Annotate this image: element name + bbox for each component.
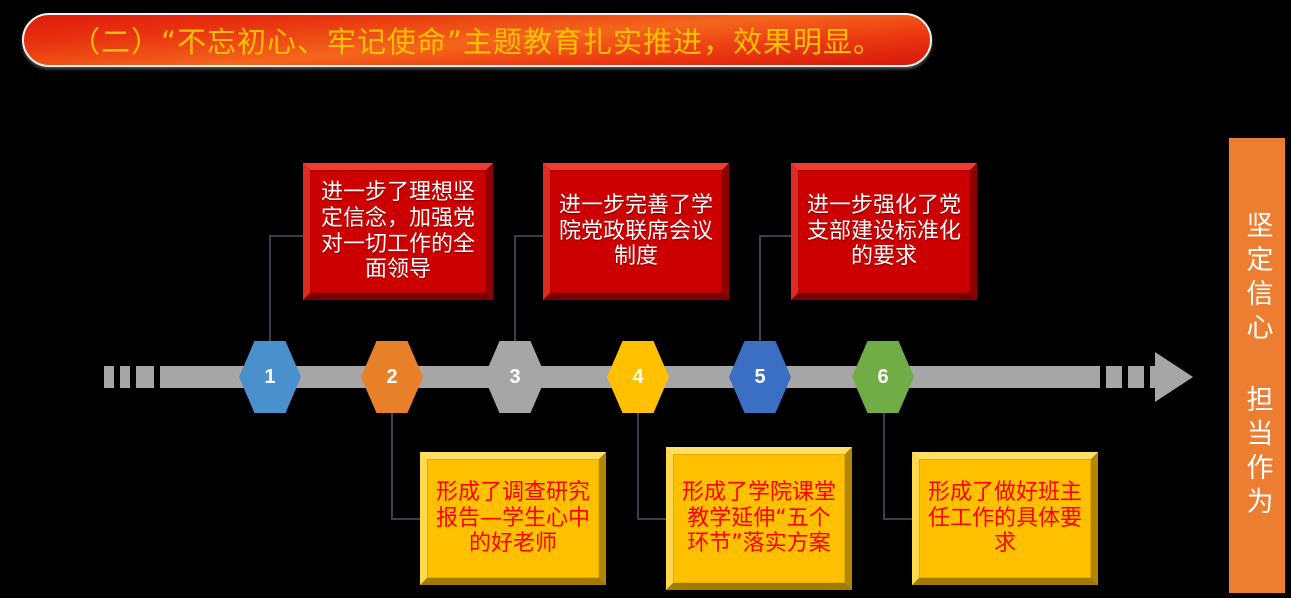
connector-5-horizontal [759,235,791,237]
timeline-marker-1-label: 1 [264,366,275,389]
side-banner-text: 坚定信心 担当作为 [1238,211,1277,521]
connector-1-vertical [269,235,271,343]
timeline-marker-2-label: 2 [386,366,397,389]
connector-2-horizontal [391,518,420,520]
axis-arrowhead-icon [1155,352,1193,402]
timeline-marker-4-label: 4 [632,366,643,389]
connector-2-vertical [391,412,393,520]
connector-4-horizontal [637,518,666,520]
top-box-3[interactable]: 进一步强化了党支部建设标准化的要求 [791,163,977,300]
top-box-1[interactable]: 进一步了理想坚定信念，加强党对一切工作的全面领导 [303,163,493,300]
timeline-marker-6-label: 6 [877,366,888,389]
connector-4-vertical [637,412,639,520]
timeline-marker-3[interactable]: 3 [484,341,546,413]
connector-6-horizontal [883,518,912,520]
side-banner: 坚定信心 担当作为 [1229,138,1285,593]
top-box-2-text: 进一步完善了学院党政联席会议制度 [550,193,722,271]
connector-1-horizontal [269,235,303,237]
axis-dash-4 [1106,366,1122,388]
connector-3-horizontal [514,235,543,237]
timeline-marker-4[interactable]: 4 [607,341,669,413]
bottom-box-1-text: 形成了调查研究报告—学生心中的好老师 [427,480,599,558]
bottom-box-3-text: 形成了做好班主任工作的具体要求 [919,480,1091,558]
top-box-3-text: 进一步强化了党支部建设标准化的要求 [798,193,970,271]
bottom-box-2-text: 形成了学院课堂教学延伸“五个环节”落实方案 [673,480,845,558]
axis-dash-5 [1128,366,1144,388]
connector-6-vertical [883,412,885,520]
section-title-banner: （二）“不忘初心、牢记使命”主题教育扎实推进，效果明显。 [22,13,932,67]
timeline-marker-2[interactable]: 2 [361,341,423,413]
timeline-marker-5-label: 5 [754,366,765,389]
bottom-box-1[interactable]: 形成了调查研究报告—学生心中的好老师 [420,452,606,585]
top-box-1-text: 进一步了理想坚定信念，加强党对一切工作的全面领导 [310,180,486,284]
axis-dash-3 [136,366,154,388]
timeline-marker-1[interactable]: 1 [239,341,301,413]
connector-3-vertical [514,235,516,343]
timeline-marker-5[interactable]: 5 [729,341,791,413]
connector-5-vertical [759,235,761,343]
axis-dash-2 [120,366,130,388]
timeline-marker-3-label: 3 [509,366,520,389]
top-box-2[interactable]: 进一步完善了学院党政联席会议制度 [543,163,729,300]
bottom-box-3[interactable]: 形成了做好班主任工作的具体要求 [912,452,1098,585]
timeline-marker-6[interactable]: 6 [852,341,914,413]
page-title: （二）“不忘初心、牢记使命”主题教育扎实推进，效果明显。 [71,19,883,61]
axis-dash-1 [104,366,114,388]
bottom-box-2[interactable]: 形成了学院课堂教学延伸“五个环节”落实方案 [666,447,852,590]
